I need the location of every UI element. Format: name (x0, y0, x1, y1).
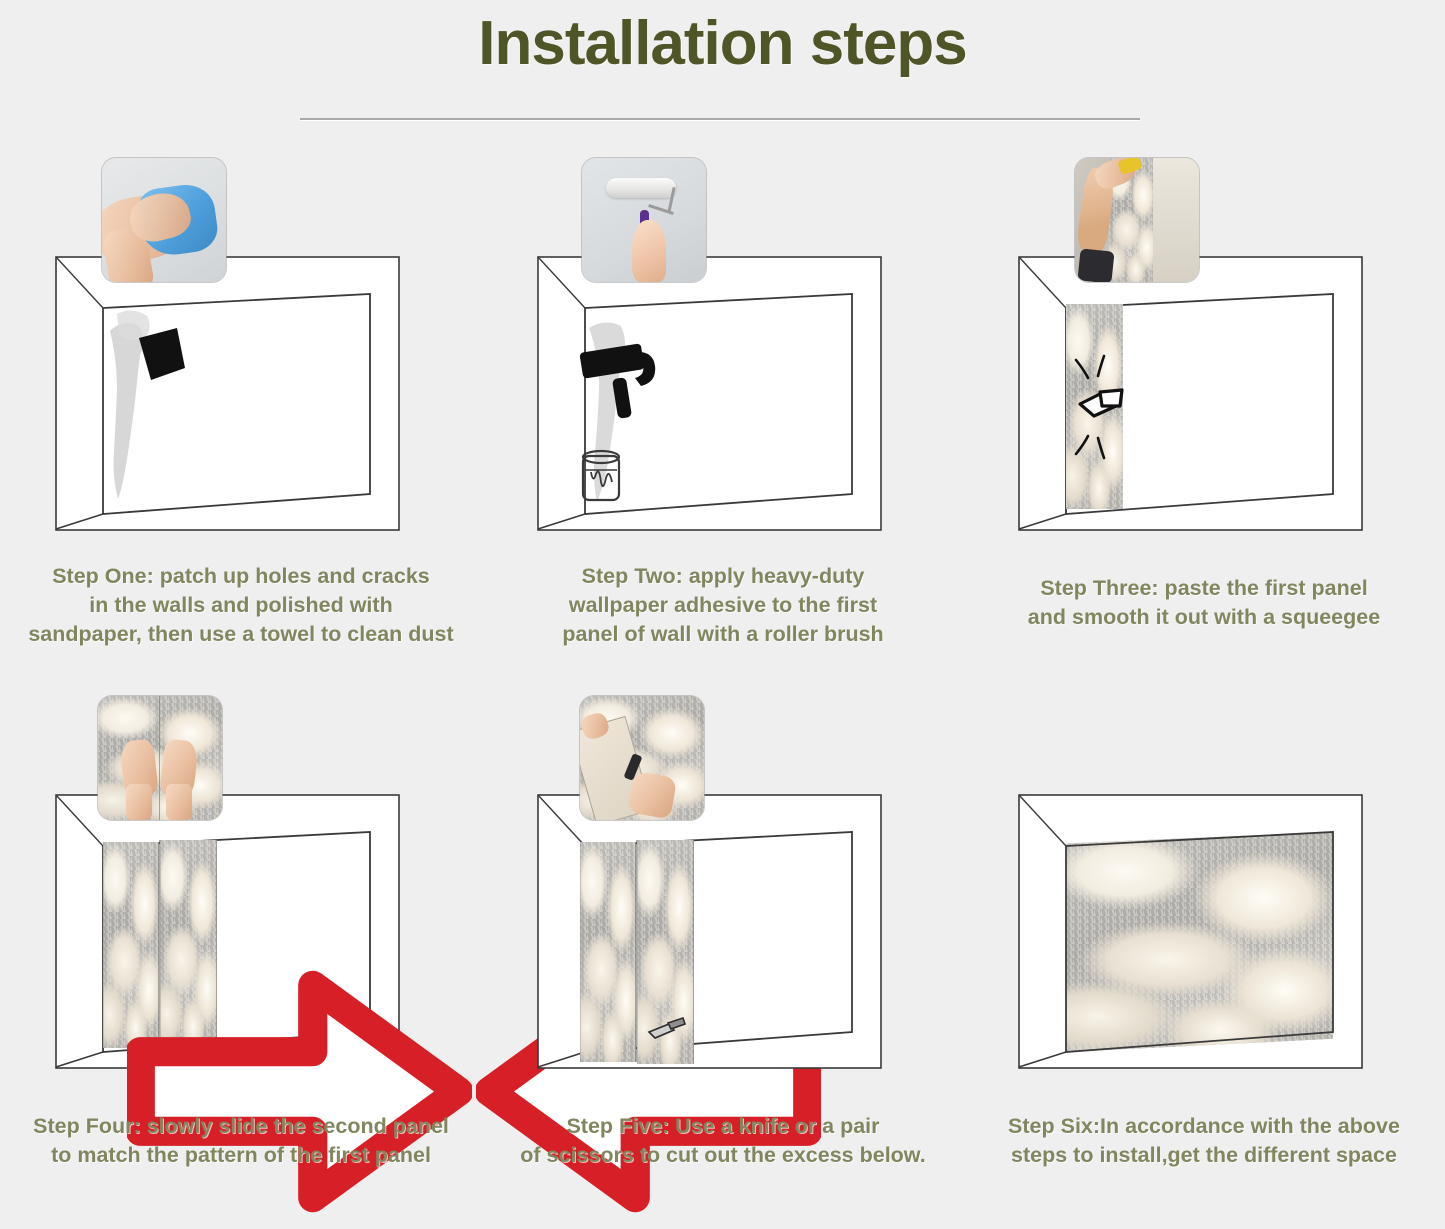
step-card-three: Step Three: paste the first panel and sm… (963, 150, 1445, 550)
step-six-caption: Step Six:In accordance with the above st… (963, 1112, 1445, 1170)
step-six-illustration (963, 688, 1445, 1088)
step-four-caption: Step Four: slowly slide the second panel… (0, 1112, 482, 1170)
photo-inset-one (102, 158, 226, 282)
room-line-drawing-one (55, 256, 400, 531)
step-two-caption: Step Two: apply heavy-duty wallpaper adh… (482, 562, 964, 650)
room-line-drawing-five (537, 794, 882, 1069)
page-title: Installation steps (0, 8, 1445, 79)
room-line-drawing-two (537, 256, 882, 531)
step-card-six: Step Six:In accordance with the above st… (963, 688, 1445, 1088)
step-four-illustration (0, 688, 482, 1088)
photo-inset-four (98, 696, 222, 820)
utility-knife-icon (649, 1018, 685, 1038)
photo-inset-five (580, 696, 704, 820)
step-three-illustration (963, 150, 1445, 550)
step-card-five: Step Five: Use a knife or a pair of scis… (482, 688, 964, 1088)
infographic-page: Installation steps (0, 0, 1445, 1217)
steps-grid: Step One: patch up holes and cracks in t… (0, 150, 1445, 1210)
step-one-illustration (0, 150, 482, 550)
arrow-right-icon (127, 954, 472, 1229)
squeegee-icon (1080, 390, 1122, 416)
step-five-illustration (482, 688, 964, 1088)
photo-inset-two (582, 158, 706, 282)
step-five-caption: Step Five: Use a knife or a pair of scis… (482, 1112, 964, 1170)
step-card-two: Step Two: apply heavy-duty wallpaper adh… (482, 150, 964, 550)
step-card-one: Step One: patch up holes and cracks in t… (0, 150, 482, 550)
step-two-illustration (482, 150, 964, 550)
header-divider (300, 118, 1140, 120)
room-line-drawing-three (1018, 256, 1363, 531)
photo-inset-three (1075, 158, 1199, 282)
room-line-drawing-six (1018, 794, 1363, 1069)
step-one-caption: Step One: patch up holes and cracks in t… (0, 562, 482, 650)
step-three-caption: Step Three: paste the first panel and sm… (963, 574, 1445, 632)
step-card-four: Step Four: slowly slide the second panel… (0, 688, 482, 1088)
room-line-drawing-four (55, 794, 400, 1069)
